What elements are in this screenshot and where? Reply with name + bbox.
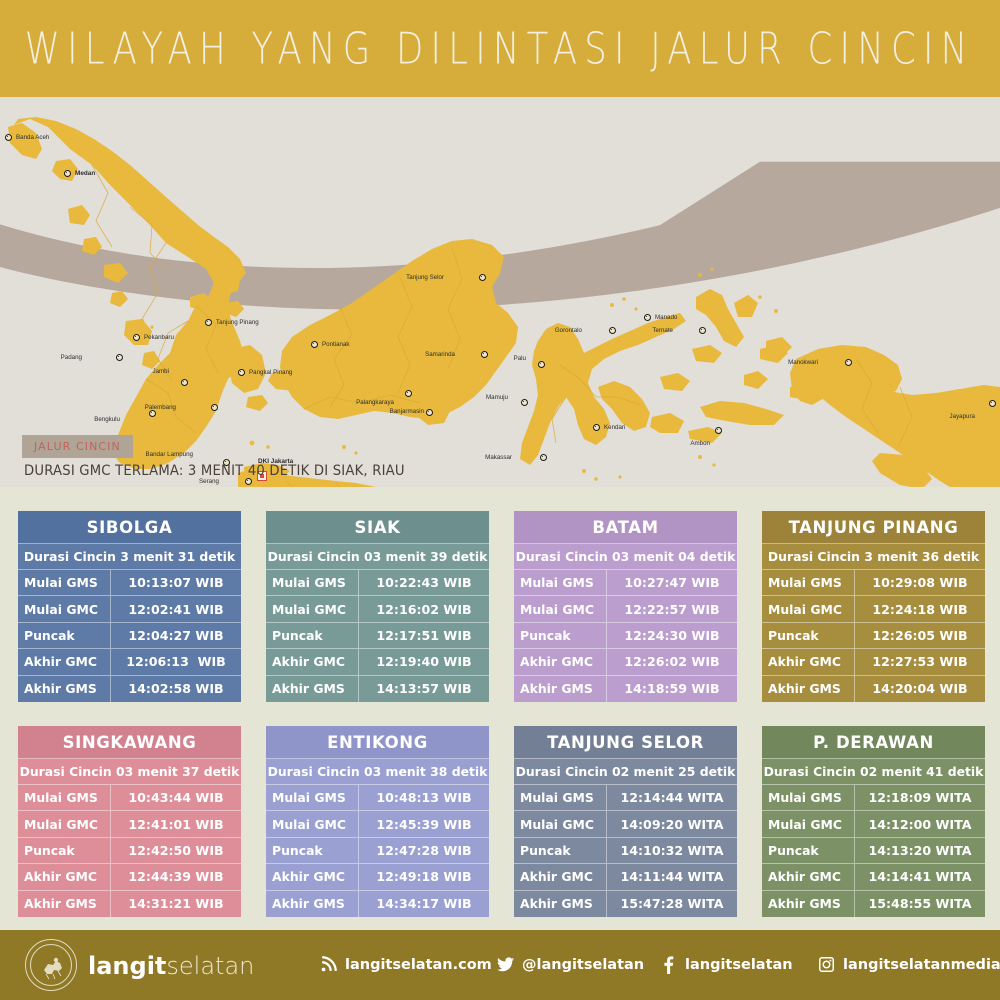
card-row: Puncak14:10:32 WITA xyxy=(514,838,737,864)
footer-link-label: @langitselatan xyxy=(522,957,644,973)
row-label: Mulai GMC xyxy=(18,811,111,836)
row-label: Mulai GMC xyxy=(514,811,607,836)
card-row: Mulai GMS10:22:43 WIB xyxy=(266,570,489,596)
row-value: 10:13:07 WIB xyxy=(111,570,241,595)
card-row: Akhir GMC12:44:39 WIB xyxy=(18,864,241,890)
row-label: Akhir GMC xyxy=(514,864,607,889)
city-label: Banda Aceh xyxy=(16,135,49,141)
row-label: Mulai GMC xyxy=(266,811,359,836)
city-label: Ternate xyxy=(652,328,673,334)
card-row: Mulai GMS10:27:47 WIB xyxy=(514,570,737,596)
footer-link-instagram[interactable]: langitselatanmedia xyxy=(818,956,1000,973)
card-row: Akhir GMC12:06:13 WIB xyxy=(18,649,241,675)
row-value: 14:34:17 WIB xyxy=(359,891,489,917)
row-label: Akhir GMC xyxy=(18,649,111,674)
row-label: Mulai GMS xyxy=(266,785,359,810)
card-row: Mulai GMS10:48:13 WIB xyxy=(266,785,489,811)
instagram-icon xyxy=(818,956,835,973)
row-value: 15:48:55 WITA xyxy=(855,891,985,917)
row-value: 12:26:05 WIB xyxy=(855,623,985,648)
row-label: Mulai GMS xyxy=(514,785,607,810)
city-label: Padang xyxy=(61,355,82,361)
row-label: Akhir GMC xyxy=(514,649,607,674)
card-row: Puncak12:24:30 WIB xyxy=(514,623,737,649)
card-row: Akhir GMS15:47:28 WITA xyxy=(514,891,737,917)
city-marker xyxy=(149,410,156,417)
row-value: 15:47:28 WITA xyxy=(607,891,737,917)
card-row: Akhir GMC12:49:18 WIB xyxy=(266,864,489,890)
card-row: Puncak12:42:50 WIB xyxy=(18,838,241,864)
card-row: Puncak14:13:20 WITA xyxy=(762,838,985,864)
row-label: Puncak xyxy=(514,623,607,648)
city-marker xyxy=(593,424,600,431)
city-label: Gorontalo xyxy=(555,328,582,334)
timing-card: SIAKDurasi Cincin 03 menit 39 detikMulai… xyxy=(266,511,489,702)
row-label: Puncak xyxy=(762,623,855,648)
card-title: P. DERAWAN xyxy=(762,726,985,759)
card-row: Akhir GMC12:19:40 WIB xyxy=(266,649,489,675)
card-row: Mulai GMS10:13:07 WIB xyxy=(18,570,241,596)
row-value: 10:48:13 WIB xyxy=(359,785,489,810)
brand-wordmark: langitselatan xyxy=(88,952,254,980)
row-value: 12:45:39 WIB xyxy=(359,811,489,836)
timing-card: TANJUNG PINANGDurasi Cincin 3 menit 36 d… xyxy=(762,511,985,702)
city-marker xyxy=(699,327,706,334)
twitter-icon xyxy=(497,956,514,973)
city-marker xyxy=(521,399,528,406)
row-value: 14:13:57 WIB xyxy=(359,676,489,702)
row-value: 10:43:44 WIB xyxy=(111,785,241,810)
city-marker xyxy=(845,359,852,366)
city-timing-cards: SIBOLGADurasi Cincin 3 menit 31 detikMul… xyxy=(0,487,1000,930)
timing-card: TANJUNG SELORDurasi Cincin 02 menit 25 d… xyxy=(514,726,737,917)
row-label: Akhir GMC xyxy=(762,649,855,674)
city-marker xyxy=(5,134,12,141)
card-title: SINGKAWANG xyxy=(18,726,241,759)
city-marker xyxy=(64,170,71,177)
card-row: Akhir GMC12:26:02 WIB xyxy=(514,649,737,675)
card-row: Akhir GMC14:14:41 WITA xyxy=(762,864,985,890)
card-title: SIBOLGA xyxy=(18,511,241,544)
row-label: Mulai GMS xyxy=(762,570,855,595)
city-label: Makassar xyxy=(485,455,512,461)
city-marker xyxy=(479,274,486,281)
card-row: Mulai GMC12:24:18 WIB xyxy=(762,596,985,622)
card-title: ENTIKONG xyxy=(266,726,489,759)
city-marker xyxy=(133,334,140,341)
row-value: 12:27:53 WIB xyxy=(855,649,985,674)
footer-link-rss[interactable]: langitselatan.com xyxy=(320,956,492,973)
city-label: Bandar Lampung xyxy=(146,452,193,458)
footer-link-label: langitselatan xyxy=(685,957,793,973)
row-value: 14:09:20 WITA xyxy=(607,811,737,836)
card-row: Akhir GMS14:02:58 WIB xyxy=(18,676,241,702)
city-label: Jayapura xyxy=(950,414,975,420)
card-duration: Durasi Cincin 02 menit 41 detik xyxy=(762,759,985,785)
card-duration: Durasi Cincin 03 menit 39 detik xyxy=(266,544,489,570)
city-label: Medan xyxy=(75,171,95,177)
card-row: Mulai GMS12:18:09 WITA xyxy=(762,785,985,811)
card-duration: Durasi Cincin 02 menit 25 detik xyxy=(514,759,737,785)
footer-link-twitter[interactable]: @langitselatan xyxy=(497,956,644,973)
timing-card: BATAMDurasi Cincin 03 menit 04 detikMula… xyxy=(514,511,737,702)
seal-horse-rider-icon xyxy=(26,940,78,992)
card-row: Puncak12:26:05 WIB xyxy=(762,623,985,649)
row-label: Puncak xyxy=(18,838,111,863)
row-value: 12:26:02 WIB xyxy=(607,649,737,674)
city-label: Palu xyxy=(514,356,526,362)
footer-link-label: langitselatan.com xyxy=(345,957,492,973)
row-value: 12:04:27 WIB xyxy=(111,623,241,648)
city-label: Kendari xyxy=(604,425,625,431)
card-row: Akhir GMS14:20:04 WIB xyxy=(762,676,985,702)
row-value: 12:42:50 WIB xyxy=(111,838,241,863)
card-title: BATAM xyxy=(514,511,737,544)
timing-card: SIBOLGADurasi Cincin 3 menit 31 detikMul… xyxy=(18,511,241,702)
row-value: 14:12:00 WITA xyxy=(855,811,985,836)
card-duration: Durasi Cincin 03 menit 37 detik xyxy=(18,759,241,785)
row-value: 12:24:30 WIB xyxy=(607,623,737,648)
card-duration: Durasi Cincin 3 menit 31 detik xyxy=(18,544,241,570)
facebook-icon xyxy=(660,956,677,973)
card-row: Akhir GMS14:13:57 WIB xyxy=(266,676,489,702)
card-row: Mulai GMC12:16:02 WIB xyxy=(266,596,489,622)
city-label: Mamuju xyxy=(486,395,508,401)
city-label: Palangkaraya xyxy=(356,400,394,406)
rss-icon xyxy=(320,956,337,973)
row-label: Akhir GMC xyxy=(762,864,855,889)
row-label: Mulai GMC xyxy=(18,596,111,621)
row-value: 12:02:41 WIB xyxy=(111,596,241,621)
row-label: Mulai GMS xyxy=(266,570,359,595)
card-row: Mulai GMC14:09:20 WITA xyxy=(514,811,737,837)
row-label: Mulai GMS xyxy=(18,785,111,810)
brand-bold: langit xyxy=(88,952,166,980)
timing-card: P. DERAWANDurasi Cincin 02 menit 41 deti… xyxy=(762,726,985,917)
row-value: 12:14:44 WITA xyxy=(607,785,737,810)
row-label: Mulai GMS xyxy=(762,785,855,810)
row-label: Puncak xyxy=(266,623,359,648)
row-label: Mulai GMC xyxy=(762,596,855,621)
row-value: 14:18:59 WIB xyxy=(607,676,737,702)
page-title: WILAYAH YANG DILINTASI JALUR CINCIN xyxy=(25,23,975,74)
island-sumatra xyxy=(8,117,246,469)
row-value: 14:02:58 WIB xyxy=(111,676,241,702)
city-label: Pangkal Pinang xyxy=(249,370,292,376)
row-label: Puncak xyxy=(762,838,855,863)
row-label: Mulai GMS xyxy=(18,570,111,595)
row-label: Akhir GMS xyxy=(18,891,111,917)
row-label: Akhir GMC xyxy=(18,864,111,889)
footer-link-label: langitselatanmedia xyxy=(843,957,1000,973)
card-row: Puncak12:04:27 WIB xyxy=(18,623,241,649)
timing-card: SINGKAWANGDurasi Cincin 03 menit 37 deti… xyxy=(18,726,241,917)
row-label: Puncak xyxy=(266,838,359,863)
card-row: Puncak12:17:51 WIB xyxy=(266,623,489,649)
card-row: Mulai GMC12:45:39 WIB xyxy=(266,811,489,837)
footer-bar: langitselatan langitselatan.com@langitse… xyxy=(0,930,1000,1000)
card-row: Akhir GMS14:34:17 WIB xyxy=(266,891,489,917)
row-label: Akhir GMC xyxy=(266,864,359,889)
card-row: Akhir GMC14:11:44 WITA xyxy=(514,864,737,890)
city-label: Serang xyxy=(199,479,219,485)
city-marker xyxy=(426,409,433,416)
city-marker xyxy=(238,369,245,376)
row-value: 12:47:28 WIB xyxy=(359,838,489,863)
row-value: 12:17:51 WIB xyxy=(359,623,489,648)
row-value: 10:29:08 WIB xyxy=(855,570,985,595)
row-value: 12:06:13 WIB xyxy=(111,649,241,674)
city-label: Tanjung Pinang xyxy=(216,320,259,326)
city-marker xyxy=(540,454,547,461)
row-value: 12:41:01 WIB xyxy=(111,811,241,836)
row-label: Akhir GMS xyxy=(762,676,855,702)
row-label: Akhir GMS xyxy=(266,891,359,917)
city-marker xyxy=(644,314,651,321)
row-label: Mulai GMC xyxy=(266,596,359,621)
card-row: Mulai GMS10:43:44 WIB xyxy=(18,785,241,811)
card-duration: Durasi Cincin 3 menit 36 detik xyxy=(762,544,985,570)
indonesia-map xyxy=(0,97,1000,487)
city-marker xyxy=(609,327,616,334)
card-row: Mulai GMC12:02:41 WIB xyxy=(18,596,241,622)
city-label: Tanjung Selor xyxy=(406,275,444,281)
row-value: 10:22:43 WIB xyxy=(359,570,489,595)
legend-jalur-cincin: JALUR CINCIN xyxy=(22,435,133,458)
city-marker xyxy=(311,341,318,348)
city-label: Pekanbaru xyxy=(144,335,174,341)
city-marker xyxy=(989,400,996,407)
row-label: Mulai GMS xyxy=(514,570,607,595)
row-value: 12:16:02 WIB xyxy=(359,596,489,621)
header-band: WILAYAH YANG DILINTASI JALUR CINCIN xyxy=(0,0,1000,97)
card-row: Akhir GMS15:48:55 WITA xyxy=(762,891,985,917)
row-label: Puncak xyxy=(514,838,607,863)
row-label: Akhir GMC xyxy=(266,649,359,674)
city-marker xyxy=(116,354,123,361)
brand-light: selatan xyxy=(166,952,254,980)
row-label: Mulai GMC xyxy=(762,811,855,836)
row-value: 12:24:18 WIB xyxy=(855,596,985,621)
langitselatan-seal-logo xyxy=(25,939,77,991)
row-value: 12:19:40 WIB xyxy=(359,649,489,674)
card-row: Mulai GMC12:41:01 WIB xyxy=(18,811,241,837)
city-marker xyxy=(181,379,188,386)
row-value: 14:20:04 WIB xyxy=(855,676,985,702)
row-label: Mulai GMC xyxy=(514,596,607,621)
city-label: Pontianak xyxy=(322,342,350,348)
card-title: TANJUNG PINANG xyxy=(762,511,985,544)
row-value: 14:14:41 WITA xyxy=(855,864,985,889)
city-label: Jambi xyxy=(152,369,169,375)
card-row: Mulai GMC12:22:57 WIB xyxy=(514,596,737,622)
map-panel: Banda AcehMedanTanjung PinangPekanbaruPa… xyxy=(0,97,1000,487)
card-row: Akhir GMC12:27:53 WIB xyxy=(762,649,985,675)
row-value: 12:18:09 WITA xyxy=(855,785,985,810)
footer-link-facebook[interactable]: langitselatan xyxy=(660,956,793,973)
row-value: 12:22:57 WIB xyxy=(607,596,737,621)
city-label: Manado xyxy=(655,315,677,321)
infographic-page: WILAYAH YANG DILINTASI JALUR CINCIN xyxy=(0,0,1000,1000)
city-label: Manokwari xyxy=(788,360,818,366)
card-duration: Durasi Cincin 03 menit 04 detik xyxy=(514,544,737,570)
caption-longest-duration: DURASI GMC TERLAMA: 3 MENIT 40 DETIK DI … xyxy=(24,463,405,479)
card-row: Mulai GMS10:29:08 WIB xyxy=(762,570,985,596)
row-value: 10:27:47 WIB xyxy=(607,570,737,595)
city-label: Ambon xyxy=(690,441,710,447)
city-label: Samarinda xyxy=(425,352,455,358)
city-marker xyxy=(205,319,212,326)
city-label: Bengkulu xyxy=(94,417,120,423)
city-marker xyxy=(538,361,545,368)
row-value: 14:10:32 WITA xyxy=(607,838,737,863)
timing-card: ENTIKONGDurasi Cincin 03 menit 38 detikM… xyxy=(266,726,489,917)
city-marker xyxy=(481,351,488,358)
row-label: Puncak xyxy=(18,623,111,648)
row-label: Akhir GMS xyxy=(18,676,111,702)
city-marker xyxy=(405,390,412,397)
row-label: Akhir GMS xyxy=(266,676,359,702)
row-label: Akhir GMS xyxy=(762,891,855,917)
row-value: 12:49:18 WIB xyxy=(359,864,489,889)
row-value: 12:44:39 WIB xyxy=(111,864,241,889)
card-row: Akhir GMS14:18:59 WIB xyxy=(514,676,737,702)
card-duration: Durasi Cincin 03 menit 38 detik xyxy=(266,759,489,785)
city-marker xyxy=(715,427,722,434)
row-value: 14:13:20 WITA xyxy=(855,838,985,863)
card-row: Akhir GMS14:31:21 WIB xyxy=(18,891,241,917)
city-marker xyxy=(211,404,218,411)
card-row: Mulai GMC14:12:00 WITA xyxy=(762,811,985,837)
city-label: Banjarmasin xyxy=(390,409,424,415)
card-title: SIAK xyxy=(266,511,489,544)
card-title: TANJUNG SELOR xyxy=(514,726,737,759)
row-value: 14:11:44 WITA xyxy=(607,864,737,889)
card-row: Mulai GMS12:14:44 WITA xyxy=(514,785,737,811)
row-label: Akhir GMS xyxy=(514,676,607,702)
row-label: Akhir GMS xyxy=(514,891,607,917)
card-row: Puncak12:47:28 WIB xyxy=(266,838,489,864)
row-value: 14:31:21 WIB xyxy=(111,891,241,917)
